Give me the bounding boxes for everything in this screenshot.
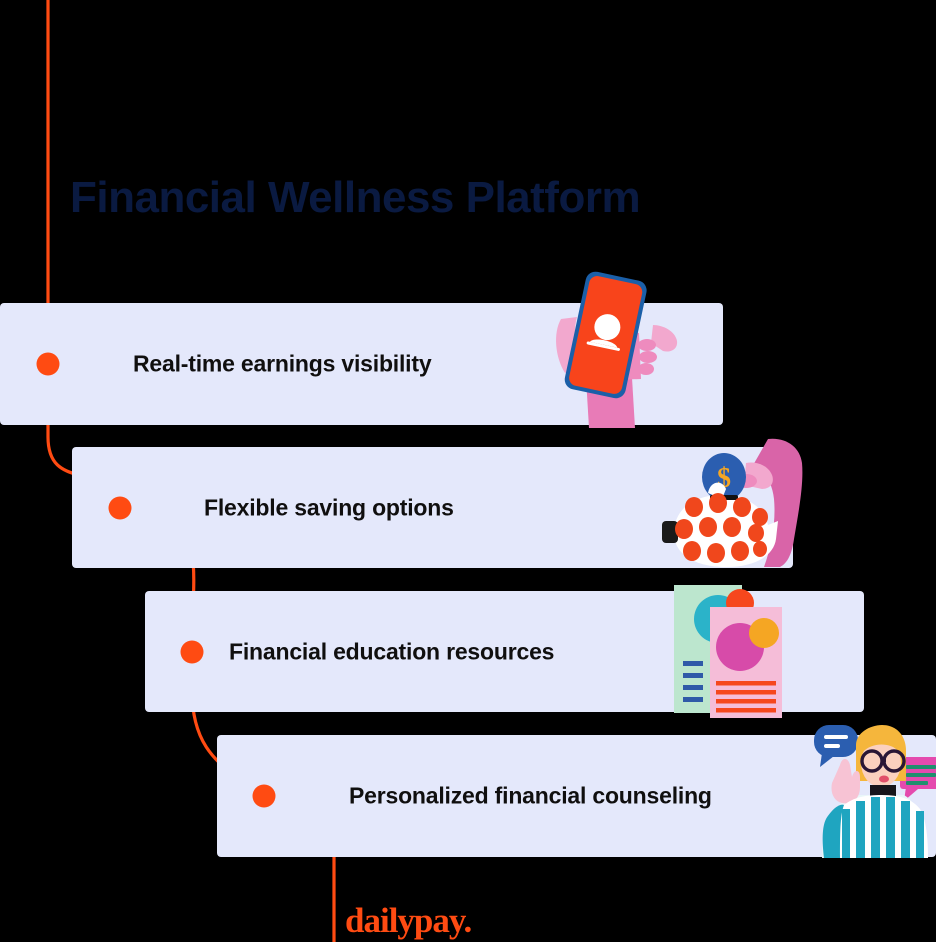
chat-bubble-blue	[814, 725, 858, 767]
feature-label-4: Personalized financial counseling	[349, 783, 712, 810]
feature-bar-4[interactable]: Personalized financial counseling	[217, 735, 936, 857]
feature-label-2: Flexible saving options	[204, 494, 454, 521]
hand-holding-phone-icon	[535, 283, 725, 428]
feature-bar-1[interactable]: Real-time earnings visibility	[0, 303, 723, 425]
piggy-bank-coin-icon: $	[660, 437, 810, 577]
page-title: Financial Wellness Platform	[70, 176, 640, 220]
infographic-canvas: Financial Wellness Platform Real-time ea…	[0, 0, 936, 942]
feature-bar-3[interactable]: Financial education resources	[145, 591, 864, 712]
feature-bar-2[interactable]: Flexible saving options $	[72, 447, 793, 568]
documents-icon	[670, 585, 815, 718]
counselor-chat-icon	[800, 723, 936, 858]
feature-label-3: Financial education resources	[229, 638, 554, 665]
dailypay-logo: dailypay.	[345, 903, 471, 938]
feature-label-1: Real-time earnings visibility	[133, 351, 431, 378]
